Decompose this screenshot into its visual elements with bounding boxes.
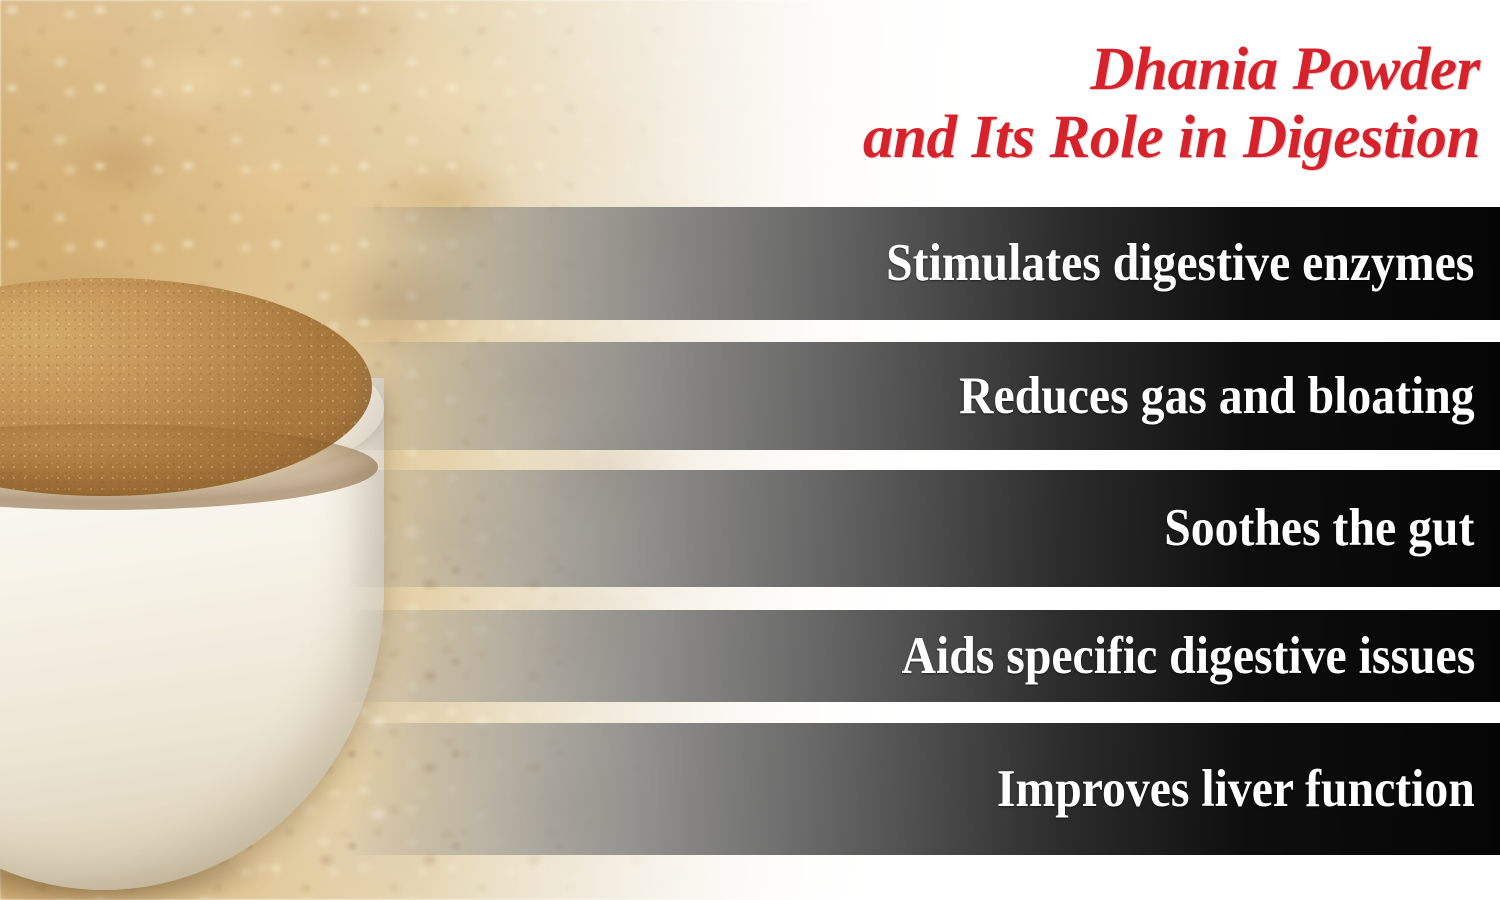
page-title: Dhania Powder and Its Role in Digestion — [560, 36, 1480, 173]
benefit-label: Stimulates digestive enzymes — [887, 237, 1500, 290]
benefit-bar-4: Aids specific digestive issues — [348, 610, 1500, 702]
benefit-bar-3: Soothes the gut — [348, 470, 1500, 587]
title-line-1: Dhania Powder — [560, 36, 1480, 104]
benefit-label: Soothes the gut — [1165, 502, 1500, 555]
benefit-bar-2: Reduces gas and bloating — [348, 342, 1500, 450]
benefit-label: Improves liver function — [997, 763, 1500, 816]
benefit-bar-1: Stimulates digestive enzymes — [348, 207, 1500, 320]
title-line-2: and Its Role in Digestion — [560, 104, 1480, 172]
benefit-label: Aids specific digestive issues — [901, 630, 1500, 683]
benefit-bar-5: Improves liver function — [348, 723, 1500, 855]
benefit-label: Reduces gas and bloating — [959, 370, 1500, 423]
infographic-poster: Dhania Powder and Its Role in Digestion … — [0, 0, 1500, 900]
